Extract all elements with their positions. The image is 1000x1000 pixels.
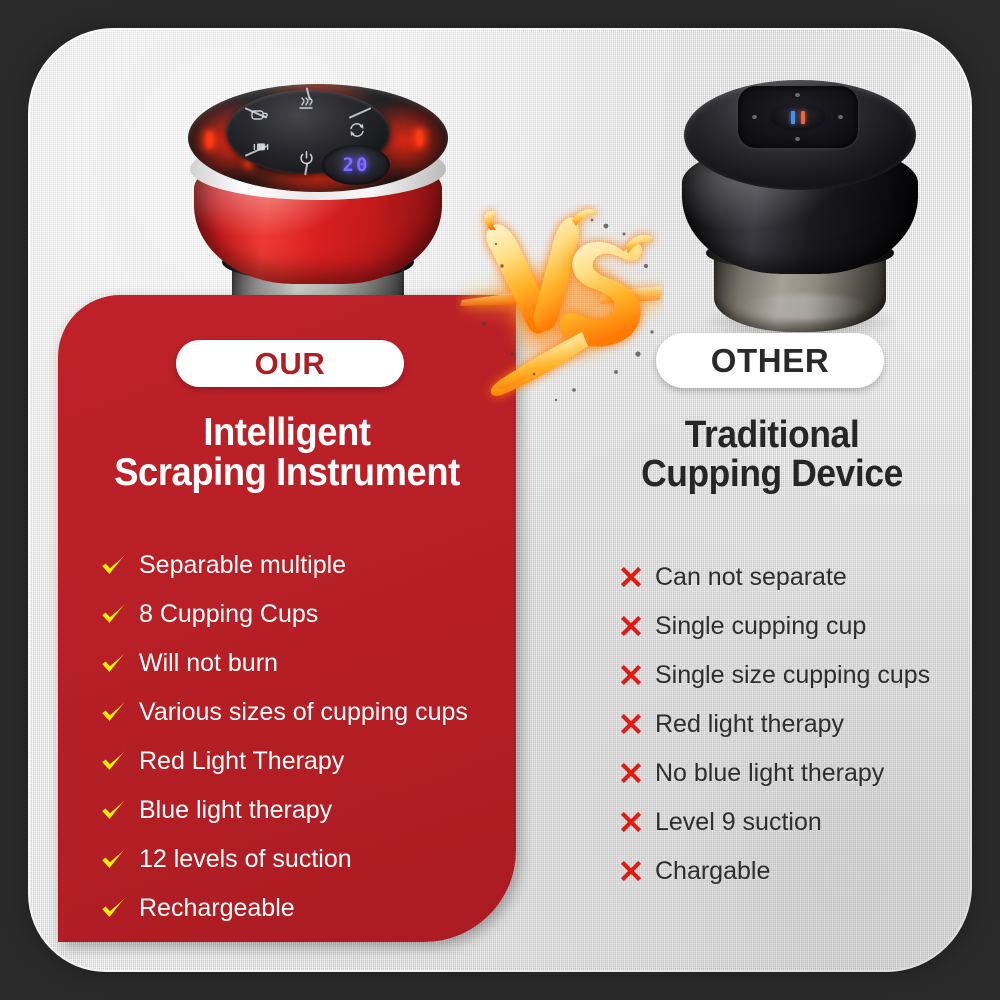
cross-icon: [620, 566, 642, 588]
check-icon: [100, 797, 127, 824]
list-item: Red light therapy: [620, 705, 972, 754]
right-product-image: [676, 58, 926, 346]
list-item-label: Will not burn: [139, 644, 278, 678]
cross-icon: [620, 762, 642, 784]
cross-icon: [620, 860, 642, 882]
infographic-stage: 20: [0, 0, 1000, 1000]
check-icon: [100, 601, 127, 628]
cross-icon: [620, 615, 642, 637]
our-product-title: Intelligent Scraping Instrument: [74, 413, 500, 493]
list-item: Red Light Therapy: [100, 742, 520, 791]
other-title-line-1: Traditional: [638, 416, 906, 455]
list-item-label: Chargable: [655, 852, 770, 886]
list-item: Can not separate: [620, 558, 972, 607]
check-icon: [100, 846, 127, 873]
list-item-label: Single cupping cup: [655, 607, 866, 641]
led-dot-1: [206, 132, 213, 148]
indicator-dot-left: [752, 115, 757, 119]
list-item: Level 9 suction: [620, 803, 972, 852]
check-icon: [100, 895, 127, 922]
list-item: Will not burn: [100, 644, 520, 693]
list-item-label: No blue light therapy: [655, 754, 884, 788]
list-item: Single cupping cup: [620, 607, 972, 656]
list-item: No blue light therapy: [620, 754, 972, 803]
right-device-control-panel[interactable]: [738, 86, 858, 148]
indicator-red: [801, 111, 805, 124]
left-device-control-disc[interactable]: 20: [226, 90, 390, 174]
list-item-label: Rechargeable: [139, 889, 295, 923]
other-badge-label: OTHER: [711, 342, 830, 380]
list-item-label: Separable multiple: [139, 546, 346, 580]
power-icon[interactable]: [298, 150, 315, 172]
check-icon: [100, 650, 127, 677]
display-value: 20: [343, 154, 370, 176]
list-item-label: Single size cupping cups: [655, 656, 930, 690]
left-device-display: 20: [322, 145, 390, 185]
check-icon: [100, 748, 127, 775]
cross-icon: [620, 664, 642, 686]
list-item-label: Various sizes of cupping cups: [139, 693, 468, 727]
our-title-line-2: Scraping Instrument: [74, 453, 500, 493]
indicator-dot-right: [838, 115, 843, 119]
other-feature-list: Can not separateSingle cupping cupSingle…: [620, 558, 972, 901]
cross-icon: [620, 811, 642, 833]
list-item-label: Red Light Therapy: [139, 742, 344, 776]
list-item: Separable multiple: [100, 546, 520, 595]
disc-divider-4: [349, 107, 372, 118]
other-badge: OTHER: [656, 333, 884, 388]
check-icon: [100, 699, 127, 726]
cupping-cup-icon[interactable]: [250, 108, 268, 127]
list-item: Various sizes of cupping cups: [100, 693, 520, 742]
our-title-line-1: Intelligent: [74, 413, 500, 453]
check-icon: [100, 552, 127, 579]
our-badge: OUR: [176, 340, 404, 387]
vs-graphic: [456, 204, 664, 412]
list-item-label: 8 Cupping Cups: [139, 595, 318, 629]
indicator-dot-top: [795, 93, 800, 97]
right-device-display: [770, 103, 826, 131]
led-dot-5: [416, 130, 423, 146]
list-item: 12 levels of suction: [100, 840, 520, 889]
heat-waves-icon[interactable]: [296, 96, 316, 117]
scrape-cycle-icon[interactable]: [348, 122, 366, 143]
list-item: Rechargeable: [100, 889, 520, 938]
list-item-label: Red light therapy: [655, 705, 844, 739]
list-item-label: Level 9 suction: [655, 803, 822, 837]
other-title-line-2: Cupping Device: [638, 455, 906, 494]
list-item-label: 12 levels of suction: [139, 840, 352, 874]
comparison-canvas: 20: [28, 28, 972, 972]
list-item: Chargable: [620, 852, 972, 901]
right-device-gloss: [740, 294, 870, 320]
indicator-blue: [791, 111, 795, 124]
indicator-dot-bottom: [795, 137, 800, 141]
vibration-icon[interactable]: [252, 140, 270, 159]
our-feature-list: Separable multiple8 Cupping CupsWill not…: [100, 546, 520, 938]
list-item: Single size cupping cups: [620, 656, 972, 705]
other-product-title: Traditional Cupping Device: [638, 416, 906, 494]
list-item: 8 Cupping Cups: [100, 595, 520, 644]
list-item-label: Blue light therapy: [139, 791, 332, 825]
list-item-label: Can not separate: [655, 558, 847, 592]
list-item: Blue light therapy: [100, 791, 520, 840]
our-badge-label: OUR: [255, 346, 326, 382]
cross-icon: [620, 713, 642, 735]
